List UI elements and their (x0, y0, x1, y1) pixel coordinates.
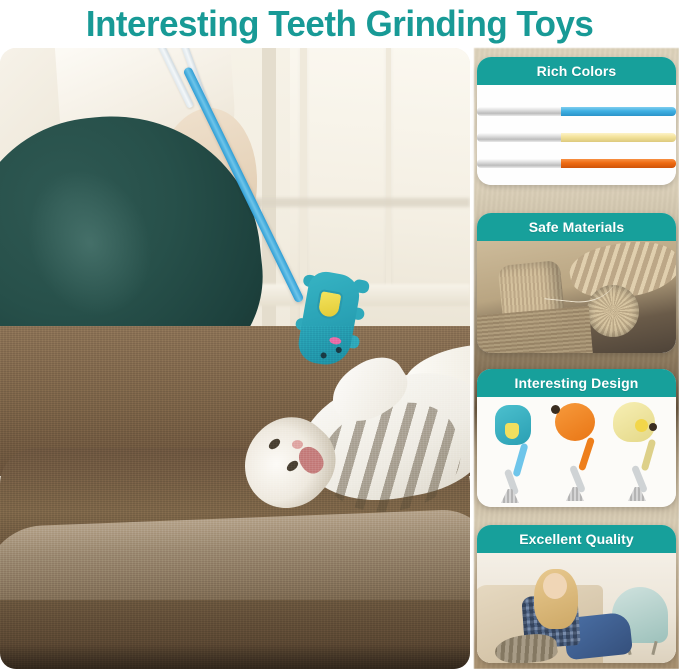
card-title-safe-materials: Safe Materials (529, 219, 625, 235)
bottom-shadow (0, 644, 470, 669)
feature-card-safe-materials[interactable]: Safe Materials (477, 213, 676, 353)
woman-face (543, 573, 567, 599)
card-header-safe-materials: Safe Materials (477, 213, 676, 241)
card-body-rich-colors (477, 85, 676, 185)
wand-tip-yellow (561, 133, 676, 142)
feature-card-excellent-quality[interactable]: Excellent Quality (477, 525, 676, 663)
hero-photo (0, 48, 470, 669)
page-title-bar: Interesting Teeth Grinding Toys (0, 0, 679, 48)
yellow-bird-wand-upper (641, 439, 657, 472)
wand-tip-orange (561, 159, 676, 168)
card-body-excellent-quality (477, 553, 676, 663)
cat-nose (292, 440, 303, 449)
rope-photo (477, 241, 676, 353)
yellow-bird-head (613, 402, 655, 442)
card-title-excellent-quality: Excellent Quality (519, 531, 634, 547)
yellow-bird-foot (649, 423, 657, 431)
orange-crab-wand-upper (578, 437, 595, 471)
burlap-cloth (477, 306, 593, 353)
wand-swatch-blue (477, 107, 676, 116)
wand-handle-gray-3 (477, 159, 561, 168)
card-body-safe-materials (477, 241, 676, 353)
orange-crab-head (555, 403, 595, 441)
wand-handle-gray-1 (477, 107, 561, 116)
wand-swatch-orange (477, 159, 676, 168)
wand-tip-blue (561, 107, 676, 116)
yellow-bird-cheek (635, 419, 648, 432)
window-rail (250, 198, 470, 207)
card-header-interesting-design: Interesting Design (477, 369, 676, 397)
card-title-rich-colors: Rich Colors (537, 63, 617, 79)
living-room-photo (477, 553, 676, 663)
card-body-interesting-design (477, 397, 676, 507)
content-stage: Rich Colors Safe Materials (0, 48, 679, 669)
blue-dinosaur-wand-upper (512, 443, 528, 478)
card-header-excellent-quality: Excellent Quality (477, 525, 676, 553)
window-mullion-2 (386, 48, 391, 288)
orange-crab-claw (551, 405, 560, 414)
feature-card-rich-colors[interactable]: Rich Colors (477, 57, 676, 185)
feature-card-column: Rich Colors Safe Materials (474, 48, 679, 669)
card-title-interesting-design: Interesting Design (515, 375, 639, 391)
wand-handle-gray-2 (477, 133, 561, 142)
blue-dinosaur-belly (505, 423, 519, 439)
page-title: Interesting Teeth Grinding Toys (86, 3, 594, 45)
feature-card-interesting-design[interactable]: Interesting Design (477, 369, 676, 507)
wand-swatch-yellow (477, 133, 676, 142)
card-header-rich-colors: Rich Colors (477, 57, 676, 85)
